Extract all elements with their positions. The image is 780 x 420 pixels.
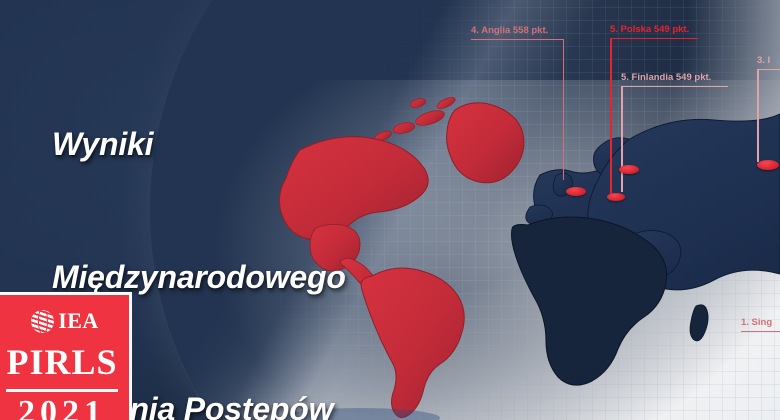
pin-uk-head (566, 187, 586, 196)
map-region-africa (512, 217, 667, 385)
callout-anglia: 4. Anglia 558 pkt. (471, 26, 564, 40)
callout-stem-anglia (563, 40, 565, 180)
callout-label-finlandia: 5. Finlandia 549 pkt. (621, 73, 728, 86)
callout-rule-finlandia (621, 86, 728, 88)
pin-asia-east-head (757, 160, 779, 170)
callout-polska: 5. Polska 549 pkt. (610, 25, 698, 39)
pin-poland[interactable] (607, 193, 625, 201)
pirls-wordmark: PIRLS (6, 344, 117, 380)
callout-stem-polska (610, 39, 612, 196)
pirls-year: 2021 (18, 396, 106, 420)
pin-uk[interactable] (566, 187, 586, 196)
callout-stem-third-cut (757, 70, 759, 162)
pin-finland[interactable] (619, 165, 639, 174)
callout-rule-third-cut (757, 69, 780, 71)
callout-stem-finlandia (621, 87, 623, 192)
callout-label-anglia: 4. Anglia 558 pkt. (471, 26, 564, 39)
iea-globe-icon (31, 310, 54, 333)
poster-canvas: Wyniki Międzynarodowego Badania Postępów… (0, 0, 780, 420)
callout-third-cut: 3. I (757, 56, 780, 70)
logo-divider (6, 389, 118, 392)
iea-wordmark: IEA (58, 308, 99, 334)
map-region-greenland (447, 103, 524, 183)
pin-asia-east[interactable] (757, 160, 779, 170)
callout-rule-polska (610, 38, 698, 40)
callout-label-singapur: 1. Sing (741, 318, 780, 331)
callout-singapur: 1. Sing (741, 318, 780, 332)
iea-lockup: IEA (31, 308, 99, 334)
callout-label-third-cut: 3. I (757, 56, 780, 69)
map-region-south-america (361, 268, 464, 418)
callout-finlandia: 5. Finlandia 549 pkt. (621, 73, 728, 87)
pin-poland-head (607, 193, 625, 201)
map-region-madagascar (690, 305, 708, 341)
callout-label-polska: 5. Polska 549 pkt. (610, 25, 698, 38)
pin-finland-head (619, 165, 639, 174)
title-line-1: Wyniki (52, 122, 366, 166)
pirls-logo[interactable]: IEA PIRLS 2021 (0, 292, 132, 420)
callout-rule-anglia (471, 39, 564, 41)
callout-rule-singapur (741, 331, 780, 333)
